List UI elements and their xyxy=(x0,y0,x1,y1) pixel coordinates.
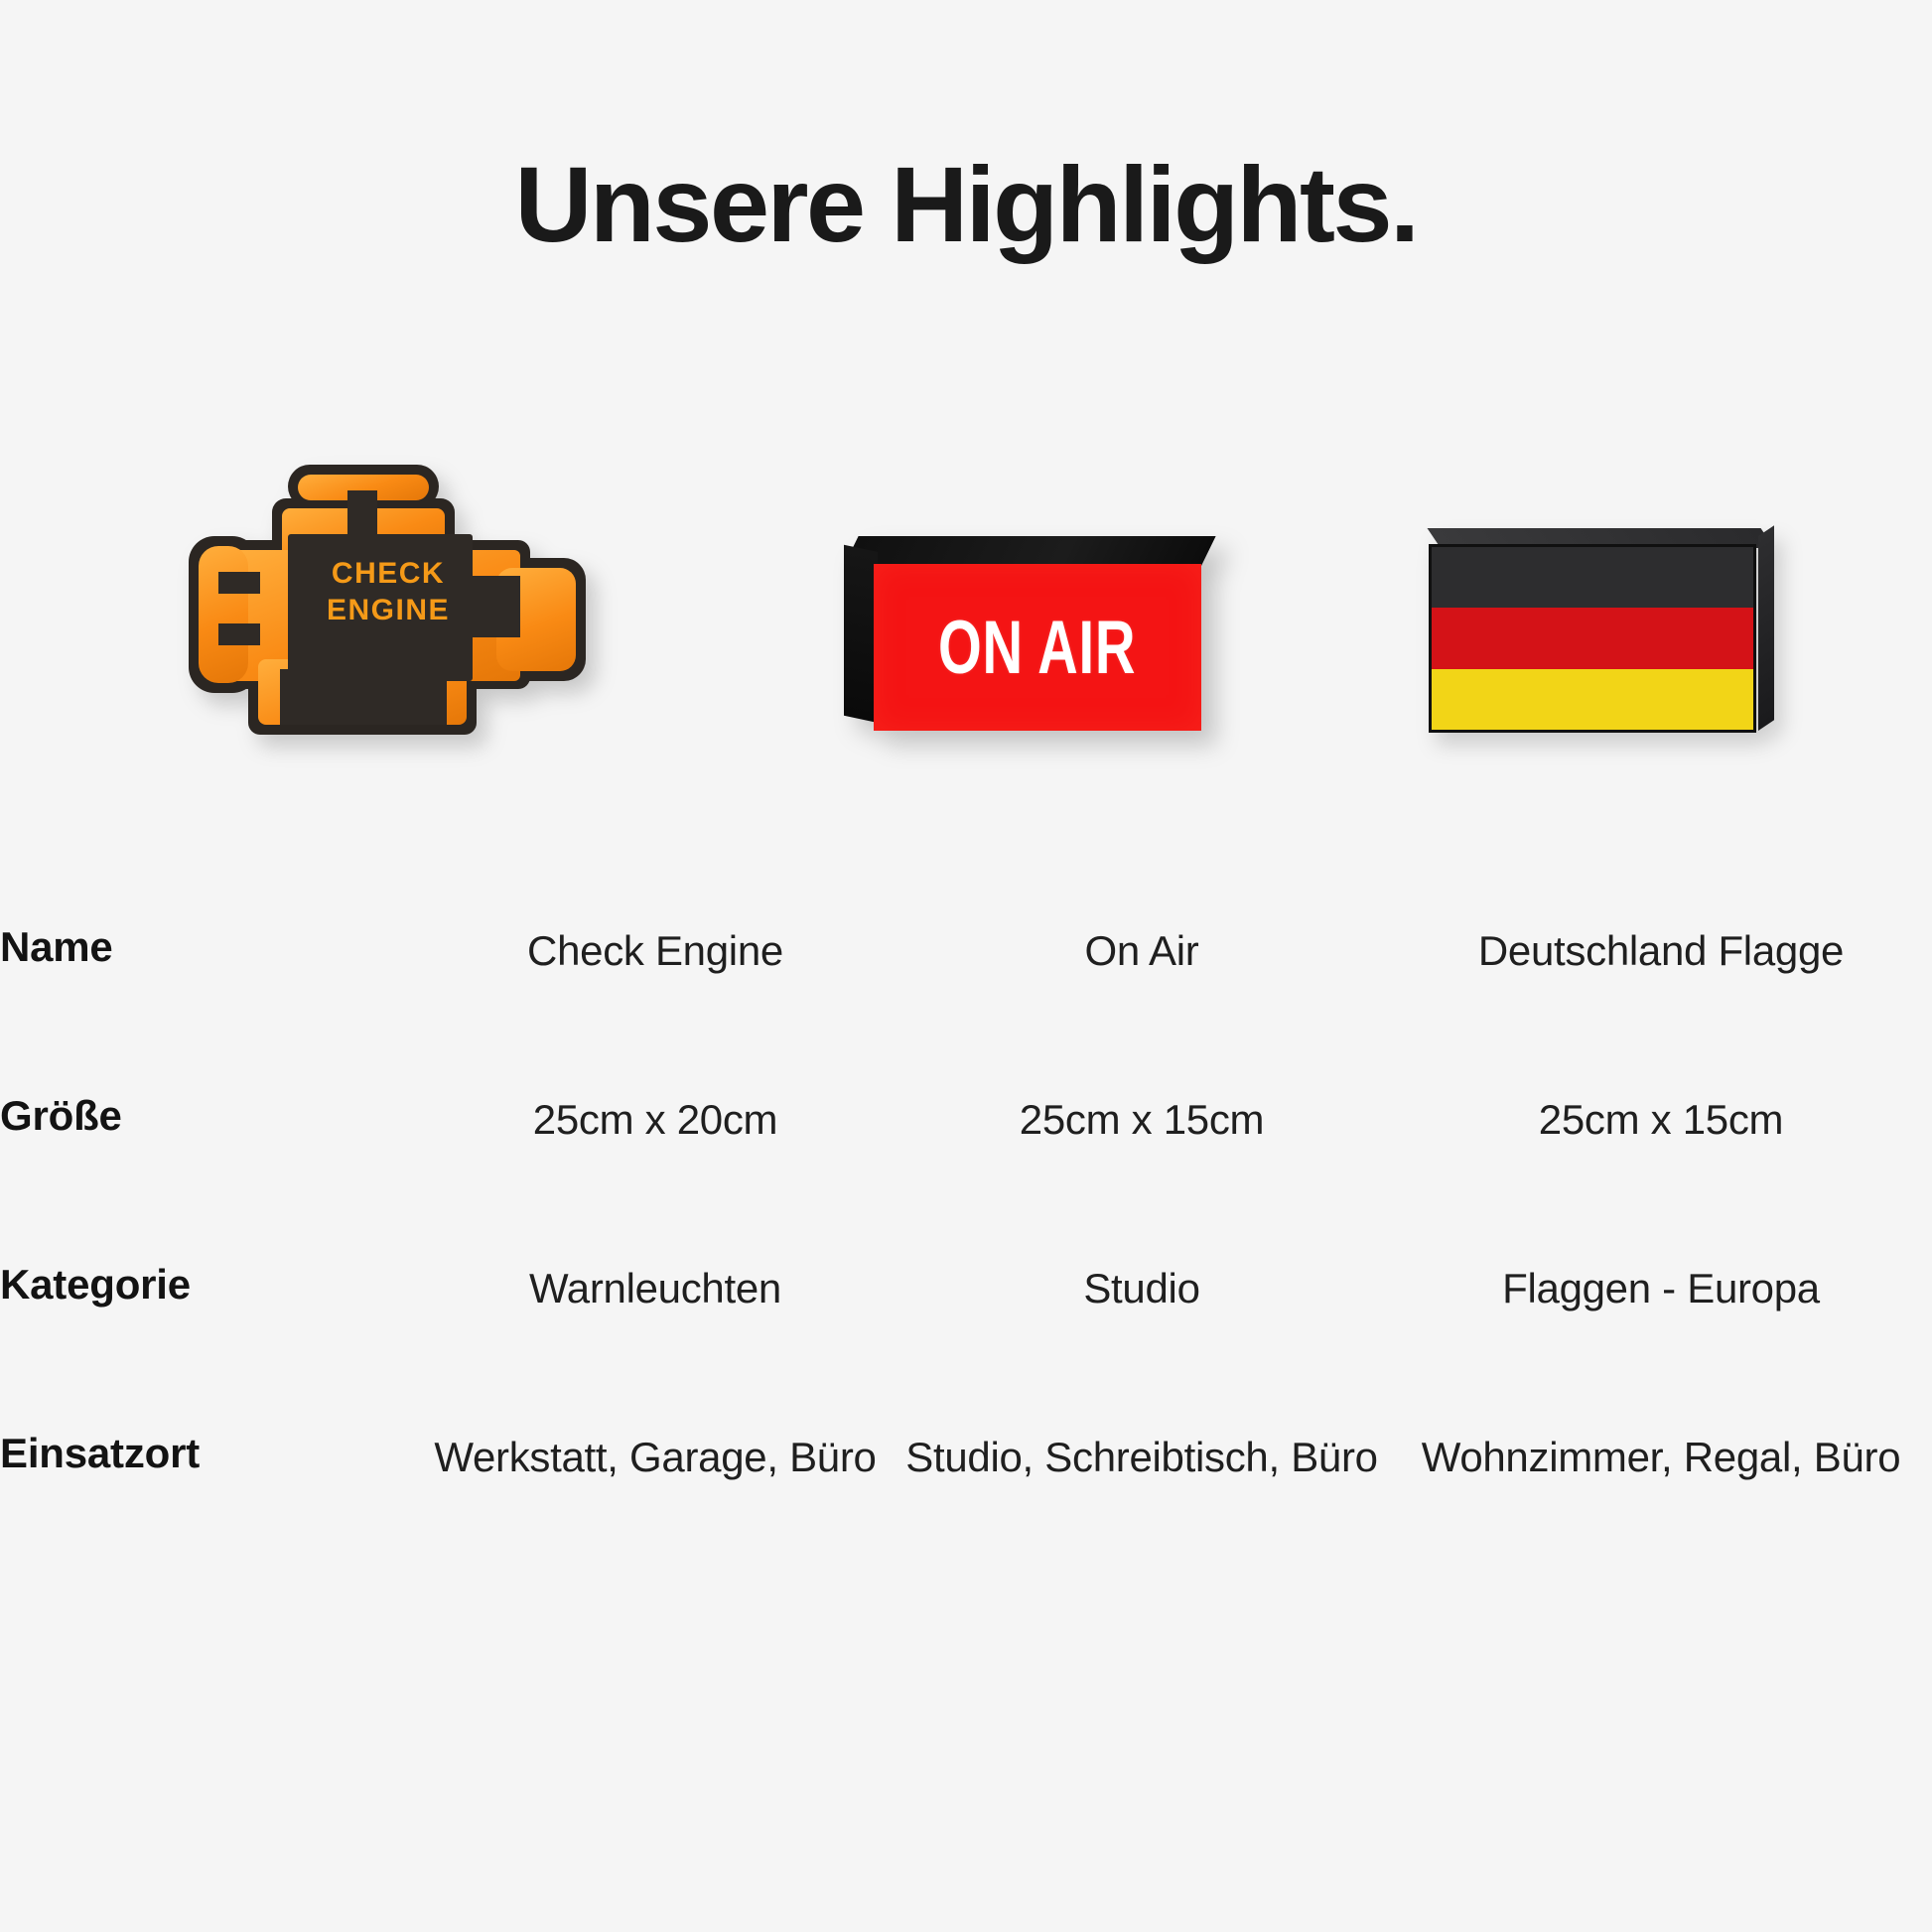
table-row: Name Check Engine On Air Deutschland Fla… xyxy=(0,923,1932,1092)
cell-kategorie-p1: Studio xyxy=(894,1261,1390,1430)
row-label-einsatzort: Einsatzort xyxy=(0,1430,417,1628)
check-engine-lamp-icon: CHECK ENGINE xyxy=(189,465,586,735)
table-row: Größe 25cm x 20cm 25cm x 15cm 25cm x 15c… xyxy=(0,1092,1932,1261)
check-engine-label: CHECK ENGINE xyxy=(300,556,477,628)
cell-einsatzort-p1: Studio, Schreibtisch, Büro xyxy=(894,1430,1390,1628)
flag-side-face xyxy=(1758,525,1774,731)
cell-name-p0: Check Engine xyxy=(417,923,894,1092)
product-image-check-engine[interactable]: CHECK ENGINE xyxy=(0,437,774,735)
cell-einsatzort-p2: Wohnzimmer, Regal, Büro xyxy=(1390,1430,1932,1628)
flag-band-black xyxy=(1432,547,1753,608)
page-title: Unsere Highlights. xyxy=(0,151,1932,258)
cell-groesse-p0: 25cm x 20cm xyxy=(417,1092,894,1261)
cell-einsatzort-p0: Werkstatt, Garage, Büro xyxy=(417,1430,894,1628)
on-air-label: ON AIR xyxy=(938,605,1136,691)
spec-table: Name Check Engine On Air Deutschland Fla… xyxy=(0,923,1932,1628)
cell-kategorie-p0: Warnleuchten xyxy=(417,1261,894,1430)
cell-groesse-p1: 25cm x 15cm xyxy=(894,1092,1390,1261)
table-row: Einsatzort Werkstatt, Garage, Büro Studi… xyxy=(0,1430,1932,1628)
on-air-sign-icon: ON AIR xyxy=(844,536,1201,735)
table-row: Kategorie Warnleuchten Studio Flaggen - … xyxy=(0,1261,1932,1430)
product-image-on-air[interactable]: ON AIR xyxy=(774,437,1271,735)
product-image-deutschland-flagge[interactable] xyxy=(1271,437,1932,735)
row-label-groesse: Größe xyxy=(0,1092,417,1261)
flag-front-face xyxy=(1429,544,1756,733)
cell-groesse-p2: 25cm x 15cm xyxy=(1390,1092,1932,1261)
cell-name-p2: Deutschland Flagge xyxy=(1390,923,1932,1092)
row-label-name: Name xyxy=(0,923,417,1092)
product-image-row: CHECK ENGINE ON AIR xyxy=(0,437,1932,735)
on-air-top-face xyxy=(844,536,1216,566)
on-air-side-face xyxy=(844,545,878,723)
cell-name-p1: On Air xyxy=(894,923,1390,1092)
flag-band-red xyxy=(1432,608,1753,668)
row-label-kategorie: Kategorie xyxy=(0,1261,417,1430)
cell-kategorie-p2: Flaggen - Europa xyxy=(1390,1261,1932,1430)
germany-flag-lamp-icon xyxy=(1429,528,1774,735)
flag-band-gold xyxy=(1432,669,1753,730)
highlights-page: Unsere Highlights. xyxy=(0,0,1932,1932)
on-air-front-face: ON AIR xyxy=(874,564,1201,731)
